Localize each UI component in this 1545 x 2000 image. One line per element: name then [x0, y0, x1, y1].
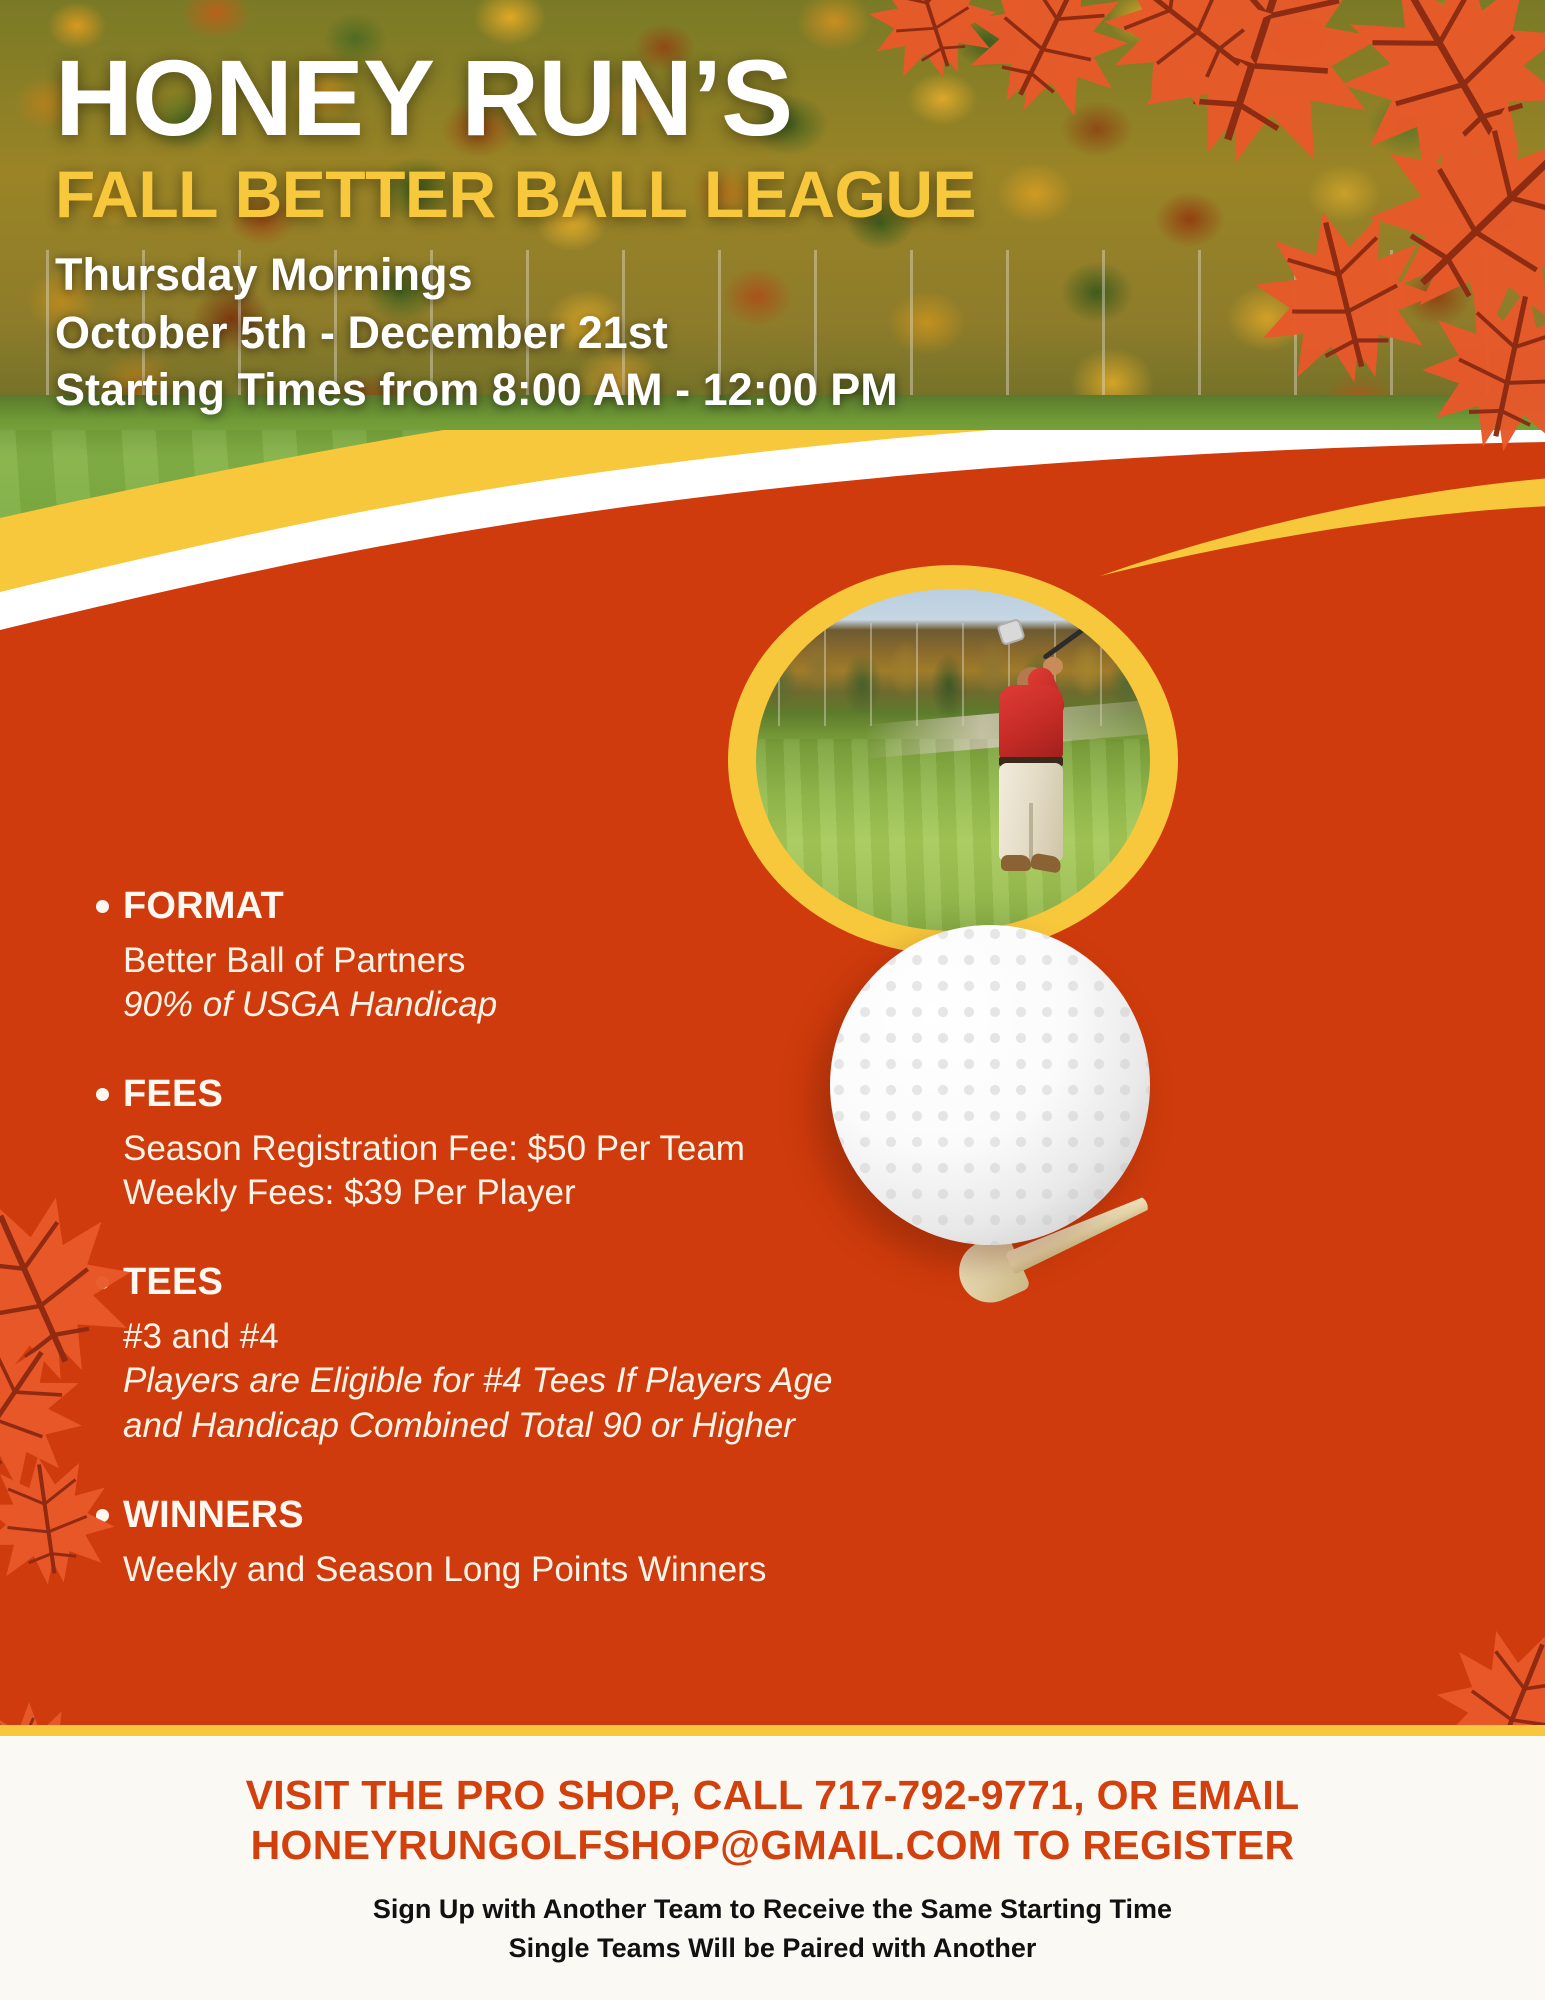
- section-heading-row: FEES: [96, 1073, 956, 1116]
- footer-contact-bar: VISIT THE PRO SHOP, CALL 717-792-9771, O…: [0, 1725, 1545, 2000]
- golfer-shoe: [1001, 855, 1031, 871]
- schedule-times: Starting Times from 8:00 AM - 12:00 PM: [55, 361, 1155, 419]
- section-winners: WINNERS Weekly and Season Long Points Wi…: [96, 1494, 956, 1592]
- section-line: 90% of USGA Handicap: [123, 983, 956, 1027]
- bullet-dot-icon: [96, 1509, 109, 1522]
- section-heading-row: WINNERS: [96, 1494, 956, 1537]
- cta-line-2[interactable]: HONEYRUNGOLFSHOP@GMAIL.COM TO REGISTER: [0, 1820, 1545, 1870]
- golf-ball-dimples: [830, 925, 1150, 1245]
- golfer-red-shirt: [999, 685, 1063, 761]
- golfer-photo-circle: [728, 565, 1178, 955]
- schedule-dates: October 5th - December 21st: [55, 304, 1155, 362]
- section-line: Players are Eligible for #4 Tees If Play…: [123, 1359, 956, 1403]
- section-heading: FORMAT: [123, 885, 284, 928]
- section-heading-row: TEES: [96, 1261, 956, 1304]
- section-line: Weekly Fees: $39 Per Player: [123, 1171, 956, 1215]
- page-subtitle: FALL BETTER BALL LEAGUE: [55, 158, 1155, 232]
- cta-line-1[interactable]: VISIT THE PRO SHOP, CALL 717-792-9771, O…: [0, 1770, 1545, 1820]
- golfer-figure: [981, 651, 1101, 881]
- golfer-swinging-photo: [756, 589, 1150, 931]
- page-title: HONEY RUN’S: [55, 42, 1155, 154]
- section-line: and Handicap Combined Total 90 or Higher: [123, 1404, 956, 1448]
- details-list: FORMAT Better Ball of Partners 90% of US…: [96, 885, 956, 1592]
- golfer-pants: [999, 763, 1063, 861]
- section-heading: TEES: [123, 1261, 223, 1304]
- section-heading: FEES: [123, 1073, 223, 1116]
- footer-note-2: Single Teams Will be Paired with Another: [0, 1929, 1545, 1968]
- section-tees: TEES #3 and #4 Players are Eligible for …: [96, 1261, 956, 1447]
- bullet-dot-icon: [96, 900, 109, 913]
- footer-note-1: Sign Up with Another Team to Receive the…: [0, 1890, 1545, 1929]
- section-heading: WINNERS: [123, 1494, 304, 1537]
- bullet-dot-icon: [96, 1088, 109, 1101]
- section-line: Season Registration Fee: $50 Per Team: [123, 1127, 956, 1171]
- header-text-block: HONEY RUN’S FALL BETTER BALL LEAGUE Thur…: [55, 42, 1155, 419]
- section-line: Weekly and Season Long Points Winners: [123, 1548, 956, 1592]
- section-line: #3 and #4: [123, 1315, 956, 1359]
- golf-ball-graphic: [830, 925, 1150, 1245]
- section-fees: FEES Season Registration Fee: $50 Per Te…: [96, 1073, 956, 1215]
- schedule-day: Thursday Mornings: [55, 246, 1155, 304]
- bullet-dot-icon: [96, 1276, 109, 1289]
- flyer-page: HONEY RUN’S FALL BETTER BALL LEAGUE Thur…: [0, 0, 1545, 2000]
